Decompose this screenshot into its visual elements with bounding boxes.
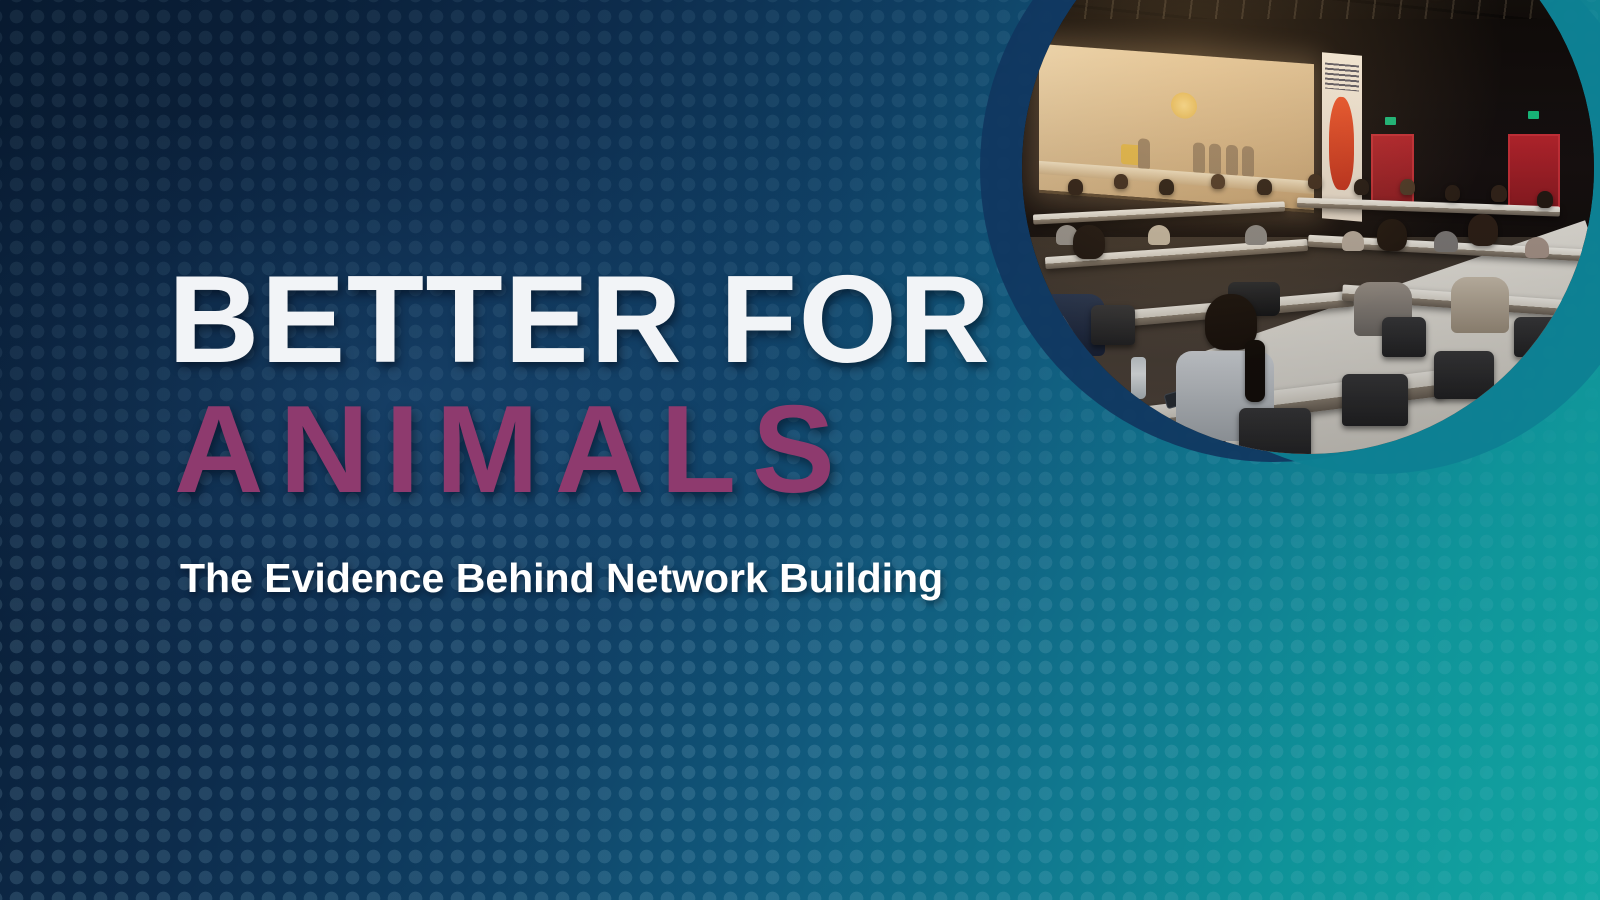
ponytail — [1245, 340, 1265, 402]
attendee-head — [1445, 185, 1460, 201]
chair — [1091, 305, 1135, 345]
exit-door-left — [1371, 134, 1414, 208]
ceiling-spotlights — [1022, 0, 1594, 31]
backpack — [1228, 282, 1280, 316]
attendee-head — [1211, 174, 1225, 189]
attendee-body — [1056, 225, 1078, 245]
attendee-body — [1354, 282, 1412, 336]
attendee-body — [1451, 277, 1509, 333]
chair — [1514, 317, 1558, 357]
ring-arc-teal — [1098, 0, 1600, 474]
attendee-head — [1073, 225, 1105, 259]
attendee-head — [1491, 185, 1507, 202]
photo-scene — [1022, 0, 1594, 454]
attendee-head — [1377, 219, 1407, 251]
page-title-line2-accent: ANIMALS — [174, 388, 1068, 512]
attendee-body — [1148, 225, 1170, 245]
exit-sign-icon — [1385, 117, 1396, 125]
attendee-head — [1468, 214, 1498, 246]
attendee-head — [1354, 179, 1369, 195]
table-row — [1308, 235, 1583, 261]
attendee-head — [1537, 191, 1553, 208]
attendee-body — [1342, 231, 1364, 251]
projection-screen — [1039, 44, 1314, 213]
aisle-walkway — [1196, 221, 1594, 454]
water-bottle — [1131, 357, 1146, 399]
screen-sun-graphic — [1171, 91, 1197, 119]
foreground-attendee-body — [1176, 351, 1274, 441]
table-row — [1033, 201, 1285, 224]
table-row — [1296, 198, 1559, 217]
back-wall — [1022, 19, 1594, 282]
smartphone — [1163, 388, 1192, 410]
screen-figure — [1193, 141, 1205, 172]
page-subtitle: The Evidence Behind Network Building — [180, 556, 1068, 601]
attendee-body — [1525, 237, 1549, 258]
conference-hall-audience-photo — [1022, 0, 1594, 454]
screen-figure — [1209, 143, 1221, 174]
ceiling — [1022, 0, 1594, 36]
foreground-attendee-head — [1205, 294, 1257, 350]
ring-arc-blue — [980, 0, 1568, 462]
attendee-head — [1159, 179, 1174, 195]
page-title-line1: BETTER FOR — [168, 258, 1086, 382]
screen-figure — [1242, 145, 1254, 176]
ceiling-grid — [1022, 0, 1594, 36]
chair-foreground — [1239, 408, 1311, 454]
attendee-head — [1257, 179, 1272, 195]
screen-stage-floor — [1039, 160, 1314, 193]
side-banner-poster — [1322, 52, 1362, 221]
photo-color-grade — [1022, 0, 1594, 454]
screen-figure — [1138, 137, 1150, 168]
banner-red-graphic — [1330, 96, 1355, 191]
hero-banner: BETTER FOR ANIMALS The Evidence Behind N… — [0, 0, 1600, 900]
table-row — [1342, 284, 1594, 319]
screen-figure — [1226, 144, 1238, 175]
chair — [1382, 317, 1426, 357]
attendee-head — [1114, 174, 1128, 189]
attendee-head — [1308, 174, 1322, 189]
attendee-head — [1400, 179, 1415, 195]
screen-figure-yellow — [1122, 143, 1144, 165]
exit-door-right — [1508, 134, 1559, 208]
chair-foreground — [1434, 351, 1494, 399]
hero-copy: BETTER FOR ANIMALS The Evidence Behind N… — [168, 258, 1068, 601]
floor — [1022, 237, 1594, 454]
attendee-head — [1068, 179, 1083, 195]
banner-text-lines — [1325, 62, 1359, 91]
chair-foreground — [1342, 374, 1408, 426]
attendee-body — [1434, 231, 1458, 252]
exit-sign-icon — [1528, 111, 1539, 119]
attendee-body — [1245, 225, 1267, 245]
